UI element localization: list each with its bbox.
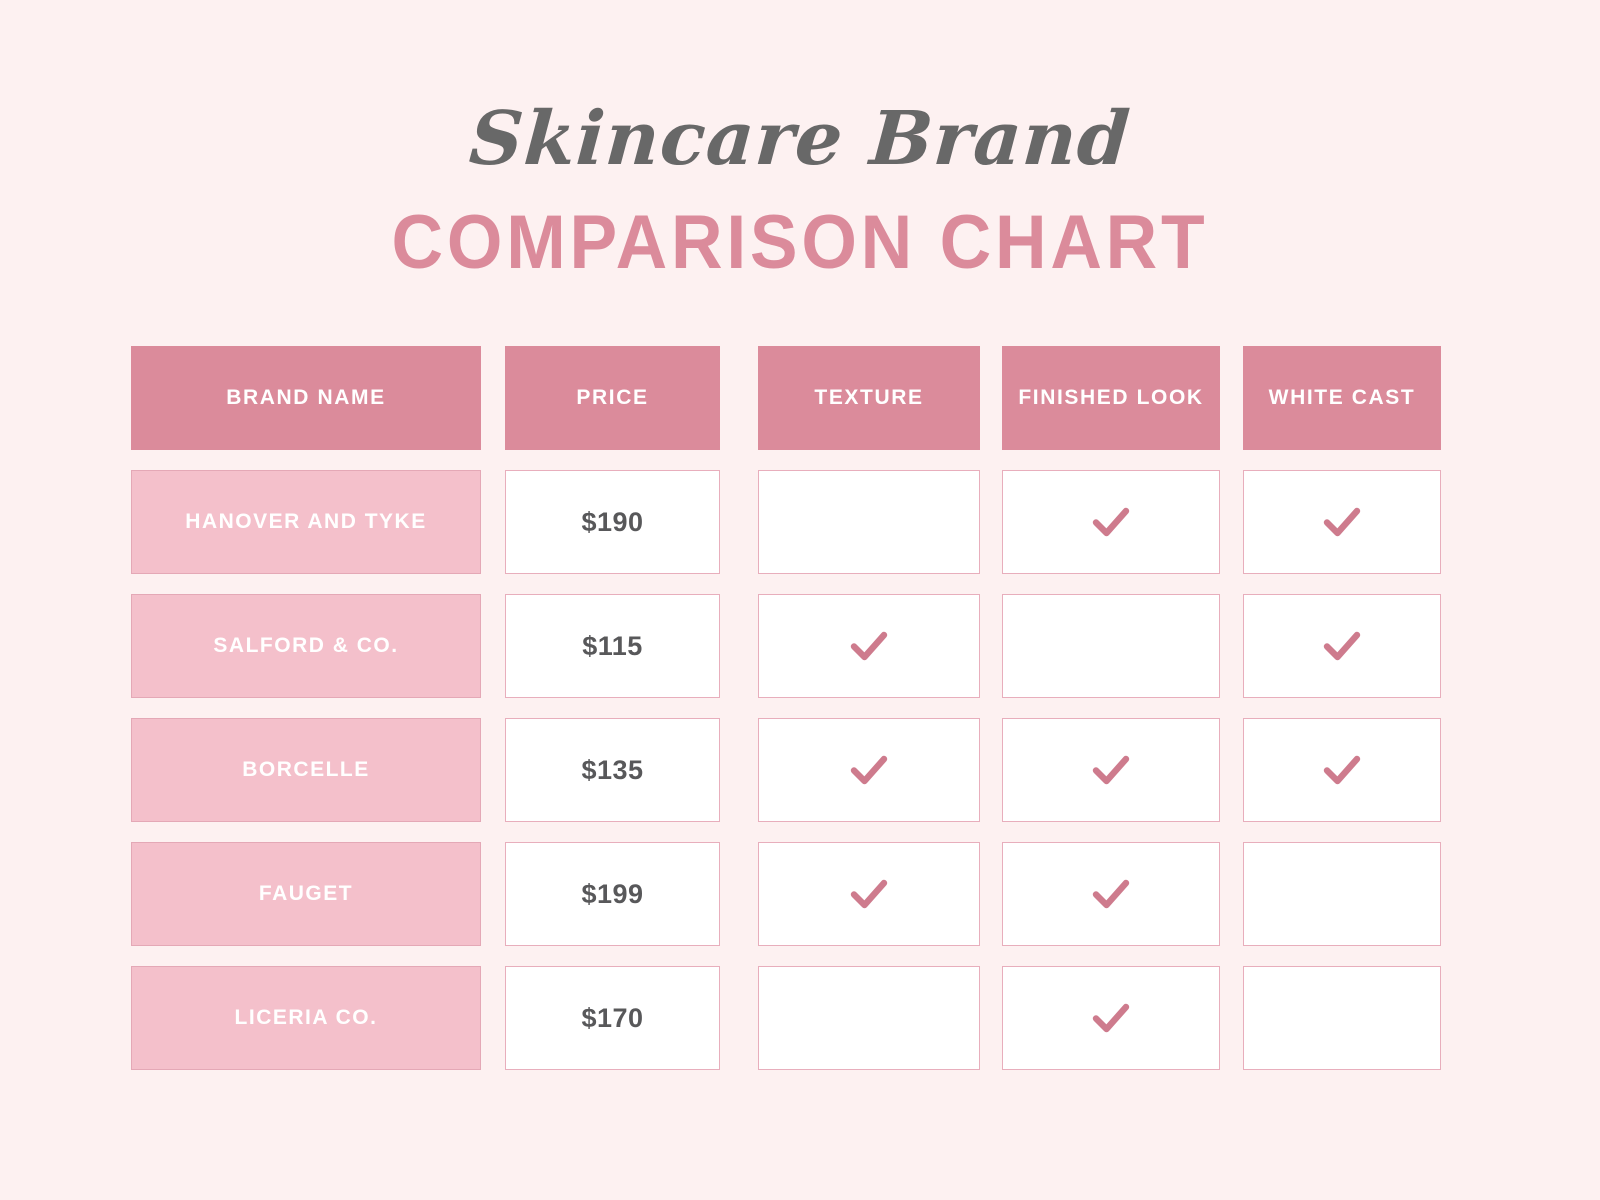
check-icon bbox=[1089, 996, 1133, 1040]
table-header-row: BRAND NAME PRICE TEXTURE FINISHED LOOK W… bbox=[131, 346, 1441, 450]
check-icon bbox=[1320, 748, 1364, 792]
table-row: LICERIA CO. $170 bbox=[131, 966, 1441, 1070]
white-cast-cell bbox=[1243, 470, 1441, 574]
column-header-texture: TEXTURE bbox=[758, 346, 980, 450]
texture-cell bbox=[758, 470, 980, 574]
brand-name-cell: HANOVER AND TYKE bbox=[131, 470, 481, 574]
brand-name-cell: SALFORD & CO. bbox=[131, 594, 481, 698]
check-icon bbox=[847, 748, 891, 792]
white-cast-cell bbox=[1243, 718, 1441, 822]
column-header-price: PRICE bbox=[505, 346, 720, 450]
white-cast-cell bbox=[1243, 966, 1441, 1070]
check-icon bbox=[1320, 500, 1364, 544]
finished-look-cell bbox=[1002, 594, 1220, 698]
price-value: $190 bbox=[581, 507, 643, 538]
table-row: HANOVER AND TYKE $190 bbox=[131, 470, 1441, 574]
check-icon bbox=[1089, 624, 1133, 668]
comparison-chart-page: Skincare Brand COMPARISON CHART BRAND NA… bbox=[0, 0, 1600, 1200]
check-icon bbox=[1089, 872, 1133, 916]
brand-name-cell: FAUGET bbox=[131, 842, 481, 946]
page-subtitle-script: Skincare Brand bbox=[0, 96, 1600, 182]
price-cell: $190 bbox=[505, 470, 720, 574]
check-icon bbox=[1320, 624, 1364, 668]
page-title: COMPARISON CHART bbox=[48, 200, 1552, 286]
price-cell: $199 bbox=[505, 842, 720, 946]
brand-name-cell: LICERIA CO. bbox=[131, 966, 481, 1070]
price-cell: $115 bbox=[505, 594, 720, 698]
check-icon bbox=[1089, 500, 1133, 544]
texture-cell bbox=[758, 718, 980, 822]
check-icon bbox=[1320, 872, 1364, 916]
price-value: $135 bbox=[581, 755, 643, 786]
price-value: $170 bbox=[581, 1003, 643, 1034]
texture-cell bbox=[758, 594, 980, 698]
table-row: SALFORD & CO. $115 bbox=[131, 594, 1441, 698]
white-cast-cell bbox=[1243, 842, 1441, 946]
check-icon bbox=[1320, 996, 1364, 1040]
finished-look-cell bbox=[1002, 470, 1220, 574]
price-cell: $170 bbox=[505, 966, 720, 1070]
brand-name-cell: BORCELLE bbox=[131, 718, 481, 822]
title-block: Skincare Brand COMPARISON CHART bbox=[0, 96, 1600, 286]
white-cast-cell bbox=[1243, 594, 1441, 698]
price-value: $199 bbox=[581, 879, 643, 910]
finished-look-cell bbox=[1002, 966, 1220, 1070]
column-header-brand-name: BRAND NAME bbox=[131, 346, 481, 450]
texture-cell bbox=[758, 842, 980, 946]
check-icon bbox=[847, 624, 891, 668]
check-icon bbox=[847, 872, 891, 916]
finished-look-cell bbox=[1002, 842, 1220, 946]
table-row: BORCELLE $135 bbox=[131, 718, 1441, 822]
check-icon bbox=[847, 500, 891, 544]
finished-look-cell bbox=[1002, 718, 1220, 822]
price-cell: $135 bbox=[505, 718, 720, 822]
price-value: $115 bbox=[582, 631, 643, 662]
column-header-white-cast: WHITE CAST bbox=[1243, 346, 1441, 450]
check-icon bbox=[847, 996, 891, 1040]
check-icon bbox=[1089, 748, 1133, 792]
table-row: FAUGET $199 bbox=[131, 842, 1441, 946]
column-header-finished-look: FINISHED LOOK bbox=[1002, 346, 1220, 450]
texture-cell bbox=[758, 966, 980, 1070]
comparison-table: BRAND NAME PRICE TEXTURE FINISHED LOOK W… bbox=[131, 346, 1441, 1070]
